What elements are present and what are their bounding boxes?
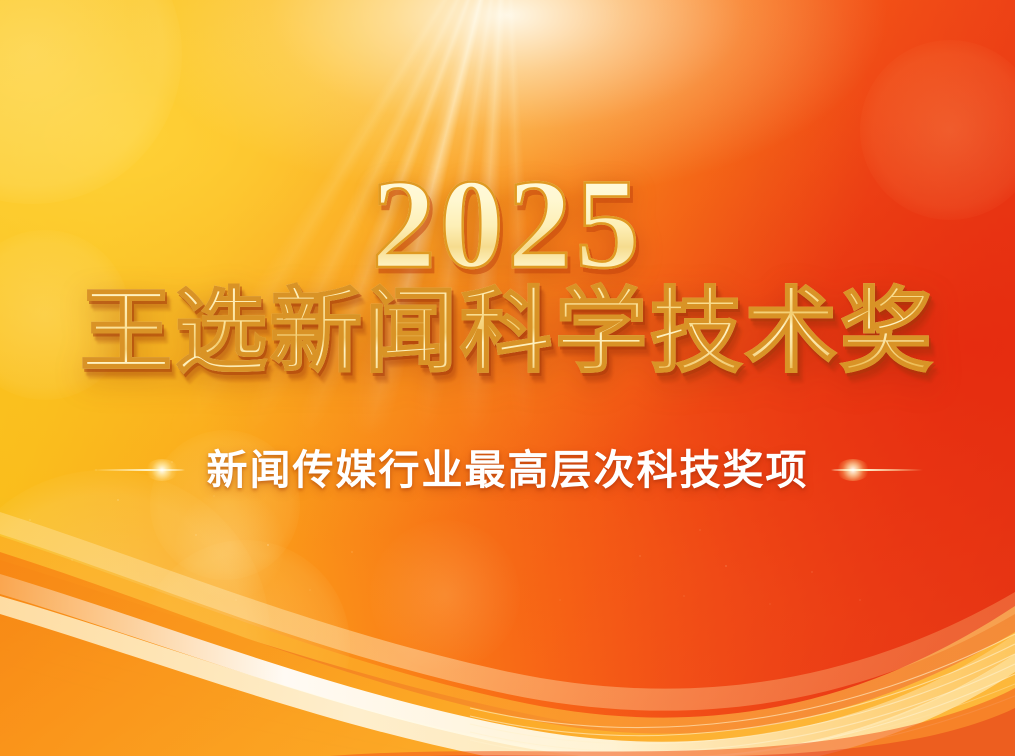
poster-content: 2025 王选新闻科学技术奖 新闻传媒行业最高层次科技奖项 [0, 0, 1015, 756]
subtitle-row: 新闻传媒行业最高层次科技奖项 [0, 440, 1015, 500]
light-flare-right-icon [831, 455, 923, 485]
subtitle-text: 新闻传媒行业最高层次科技奖项 [207, 450, 809, 491]
award-poster: 2025 王选新闻科学技术奖 新闻传媒行业最高层次科技奖项 [0, 0, 1015, 756]
flare-spark-icon [145, 459, 179, 481]
light-flare-left-icon [93, 455, 185, 485]
page-title: 王选新闻科学技术奖 [0, 283, 1015, 381]
year-heading: 2025 [0, 160, 1015, 288]
flare-spark-icon [836, 459, 870, 481]
